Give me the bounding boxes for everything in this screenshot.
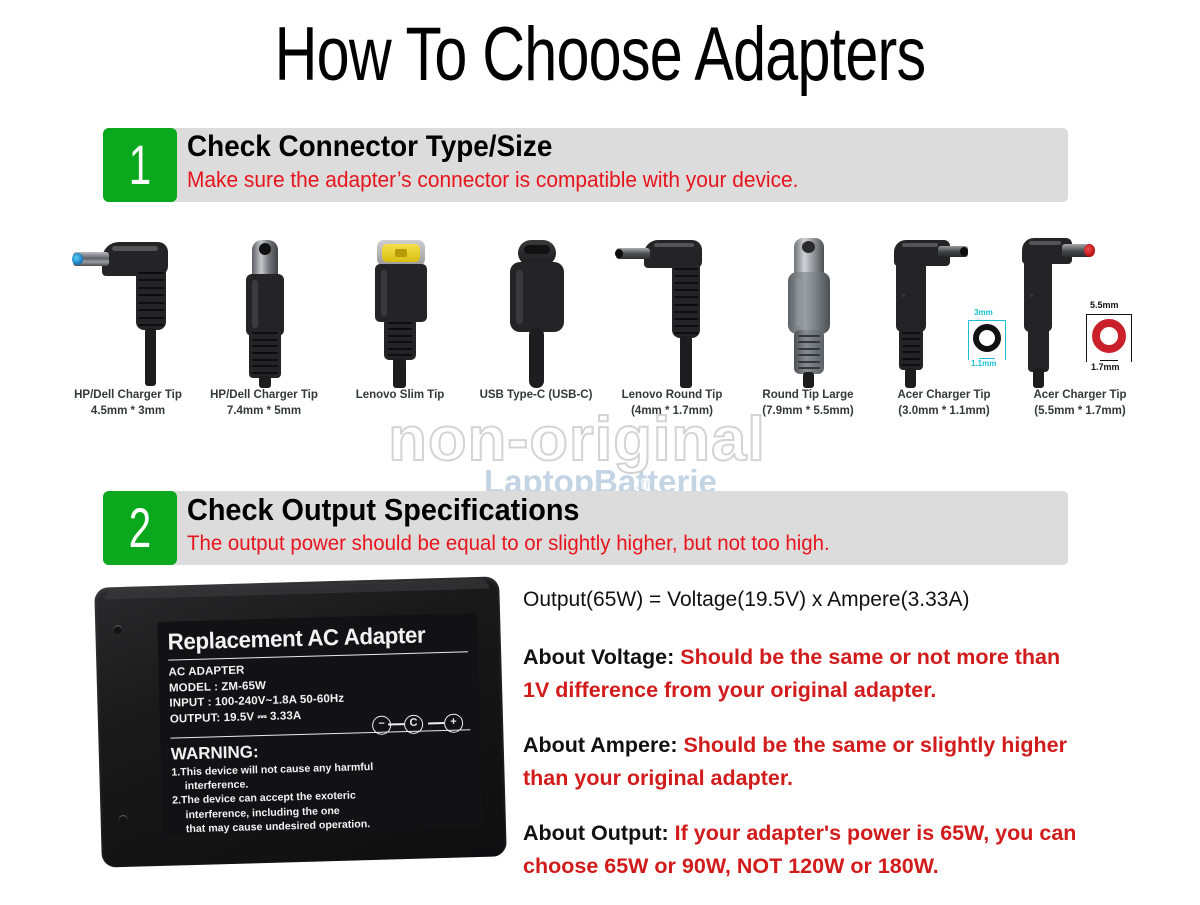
polarity-plus: +	[444, 713, 464, 733]
adapter-screw-bottom-left	[119, 815, 128, 824]
spec-ampere-label: About Ampere:	[523, 733, 677, 757]
infographic-page: How To Choose Adapters 1 Check Connector…	[0, 0, 1200, 900]
step-2-number: 2	[113, 491, 166, 565]
page-title: How To Choose Adapters	[132, 14, 1068, 96]
connector-name: Acer Charger Tip	[1033, 389, 1126, 401]
step-2-number-box: 2	[103, 491, 177, 565]
connector-size: (5.5mm * 1.7mm)	[1012, 403, 1148, 419]
right-angle-barrel-connector-blue-tip	[60, 232, 196, 387]
right-angle-round-tip-connector	[604, 232, 740, 387]
connector-size: (7.9mm * 5.5mm)	[740, 403, 876, 419]
spec-ampere: About Ampere: Should be the same or slig…	[523, 729, 1083, 795]
step-2-subheading: The output power should be equal to or s…	[187, 527, 830, 559]
straight-barrel-connector-silver-tip	[196, 232, 332, 387]
connector-name: Lenovo Slim Tip	[356, 389, 445, 401]
connector-item-hp-dell-4-5mm: HP/Dell Charger Tip 4.5mm * 3mm	[60, 232, 196, 442]
connector-item-hp-dell-7-4mm: HP/Dell Charger Tip 7.4mm * 5mm	[196, 232, 332, 442]
ring-outer-label: 3mm	[974, 308, 993, 317]
connector-item-lenovo-slim: Lenovo Slim Tip	[332, 232, 468, 442]
straight-large-round-tip-connector-gray	[740, 232, 876, 387]
usb-type-c-connector	[468, 232, 604, 387]
connector-caption: Acer Charger Tip (5.5mm * 1.7mm)	[1012, 387, 1148, 419]
connector-item-usb-c: USB Type-C (USB-C)	[468, 232, 604, 442]
polarity-minus: −	[372, 715, 392, 735]
connector-size: 7.4mm * 5mm	[196, 403, 332, 419]
connector-item-round-tip-large: Round Tip Large (7.9mm * 5.5mm)	[740, 232, 876, 442]
connector-caption: HP/Dell Charger Tip 7.4mm * 5mm	[196, 387, 332, 419]
connector-item-acer-5-5mm: 5.5mm 1.7mm Acer Charger Tip (5.5mm * 1.…	[1012, 232, 1148, 442]
connector-caption: Acer Charger Tip (3.0mm * 1.1mm)	[876, 387, 1012, 419]
connector-name: HP/Dell Charger Tip	[210, 389, 318, 401]
spec-voltage: About Voltage: Should be the same or not…	[523, 641, 1083, 707]
right-angle-acer-connector-red-tip-with-ring-diagram: 5.5mm 1.7mm	[1012, 232, 1148, 387]
connector-caption: Lenovo Slim Tip	[332, 387, 468, 403]
connector-name: Round Tip Large	[762, 389, 853, 401]
connector-caption: USB Type-C (USB-C)	[468, 387, 604, 403]
output-spec-text: Output(65W) = Voltage(19.5V) x Ampere(3.…	[523, 586, 1083, 905]
connector-item-acer-3-0mm: 3mm 1.1mm Acer Charger Tip (3.0mm * 1.1m…	[876, 232, 1012, 442]
connector-caption: Round Tip Large (7.9mm * 5.5mm)	[740, 387, 876, 419]
step-2-banner: 2 Check Output Specifications The output…	[103, 491, 1068, 565]
lenovo-slim-rectangular-connector-yellow-tip	[332, 232, 468, 387]
ring-inner-label: 1.7mm	[1091, 362, 1120, 372]
adapter-photo: Replacement AC Adapter AC ADAPTER MODEL …	[90, 572, 510, 892]
adapter-spec-label: Replacement AC Adapter AC ADAPTER MODEL …	[157, 613, 483, 837]
adapter-top-edge	[104, 579, 489, 600]
ring-outer-label: 5.5mm	[1090, 300, 1119, 310]
step-1-banner: 1 Check Connector Type/Size Make sure th…	[103, 128, 1068, 202]
connector-name: USB Type-C (USB-C)	[480, 389, 593, 401]
connector-caption: Lenovo Round Tip (4mm * 1.7mm)	[604, 387, 740, 419]
connector-name: HP/Dell Charger Tip	[74, 389, 182, 401]
spec-output: About Output: If your adapter's power is…	[523, 817, 1083, 883]
adapter-label-title: Replacement AC Adapter	[167, 620, 459, 656]
connector-name: Lenovo Round Tip	[622, 389, 723, 401]
spec-output-label: About Output:	[523, 821, 669, 845]
warning-list: 1.This device will not cause any harmful…	[171, 757, 473, 836]
strain-relief-ribs	[138, 272, 164, 326]
connector-item-lenovo-round: Lenovo Round Tip (4mm * 1.7mm)	[604, 232, 740, 442]
step-2-heading: Check Output Specifications	[187, 492, 579, 528]
spec-voltage-label: About Voltage:	[523, 645, 674, 669]
step-1-subheading: Make sure the adapter’s connector is com…	[187, 164, 798, 196]
adapter-body: Replacement AC Adapter AC ADAPTER MODEL …	[94, 576, 507, 867]
ring-diagram-acer-3-0mm: 3mm 1.1mm	[962, 308, 1012, 370]
output-equation: Output(65W) = Voltage(19.5V) x Ampere(3.…	[523, 586, 1083, 614]
right-angle-acer-connector-with-ring-diagram: 3mm 1.1mm	[876, 232, 1012, 387]
connector-size: (4mm * 1.7mm)	[604, 403, 740, 419]
connector-size: (3.0mm * 1.1mm)	[876, 403, 1012, 419]
connector-size: 4.5mm * 3mm	[60, 403, 196, 419]
connector-caption: HP/Dell Charger Tip 4.5mm * 3mm	[60, 387, 196, 419]
polarity-center: C	[404, 715, 424, 735]
ring-diagram-acer-5-5mm: 5.5mm 1.7mm	[1078, 300, 1142, 374]
step-1-number-box: 1	[103, 128, 177, 202]
step-1-heading: Check Connector Type/Size	[187, 129, 552, 165]
connector-name: Acer Charger Tip	[897, 389, 990, 401]
adapter-screw-top-left	[113, 625, 122, 634]
ring-inner-label: 1.1mm	[971, 359, 996, 368]
polarity-symbol: − C +	[372, 713, 468, 734]
step-1-number: 1	[113, 128, 166, 202]
connector-gallery: HP/Dell Charger Tip 4.5mm * 3mm	[60, 232, 1150, 442]
